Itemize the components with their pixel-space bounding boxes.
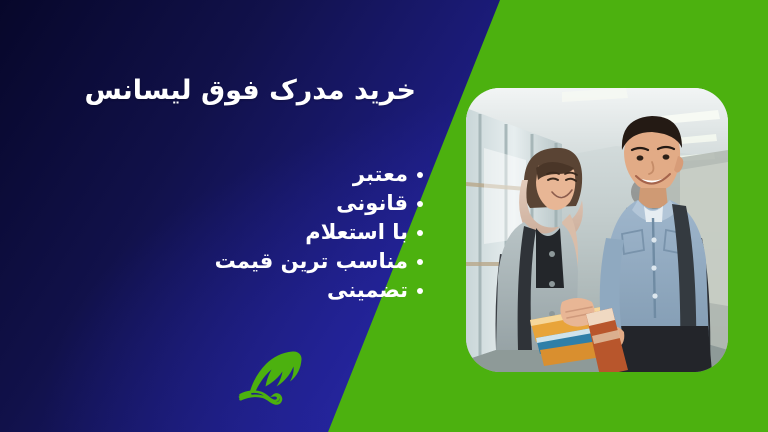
list-item-label: با استعلام <box>305 218 408 247</box>
list-item-label: قانونی <box>336 189 408 218</box>
bullet-dot-icon <box>417 288 423 294</box>
list-item-label: مناسب ترین قیمت <box>215 247 408 276</box>
bullet-dot-icon <box>417 172 423 178</box>
list-item: مناسب ترین قیمت <box>123 247 423 276</box>
page-title: خرید مدرک فوق لیسانس <box>86 74 416 108</box>
list-item: قانونی <box>123 189 423 218</box>
students-photo <box>466 88 728 372</box>
list-item-label: تضمینی <box>327 276 408 305</box>
bullet-dot-icon <box>417 259 423 265</box>
bullet-dot-icon <box>417 201 423 207</box>
list-item: تضمینی <box>123 276 423 305</box>
list-item: با استعلام <box>123 218 423 247</box>
promo-banner: خرید مدرک فوق لیسانس معتبر قانونی با است… <box>0 0 768 432</box>
feather-quill-icon <box>228 347 314 409</box>
feature-list: معتبر قانونی با استعلام مناسب ترین قیمت … <box>123 160 423 305</box>
list-item-label: معتبر <box>353 160 408 189</box>
bullet-dot-icon <box>417 230 423 236</box>
list-item: معتبر <box>123 160 423 189</box>
